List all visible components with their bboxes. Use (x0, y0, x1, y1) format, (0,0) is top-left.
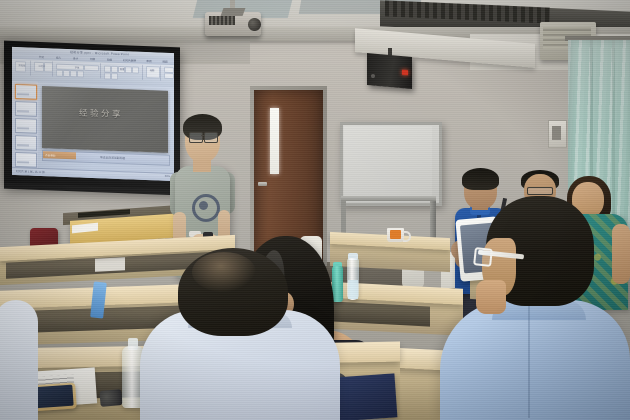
projector-screen-surface: 经验分享.pptx - Microsoft PowerPoint 开始 插入 设… (12, 47, 174, 181)
shirt-seam (528, 306, 530, 418)
gold-smartphone-screen[interactable] (32, 385, 73, 409)
slide-editing-stage[interactable]: 经验分享 点击添加 单击此处添加副标题 (38, 82, 174, 173)
blue-polo-man-hair (462, 168, 499, 190)
patterned-blouse-woman-arm (612, 224, 630, 284)
slide-accent-label: 点击添加 (45, 153, 55, 157)
ribbon-group-label-clipboard: 剪贴板 (14, 63, 30, 68)
door-glass-panel (270, 108, 279, 174)
projector-arm (221, 8, 246, 16)
slide-thumbnail-4[interactable] (15, 135, 37, 151)
eyeglasses-lens-left-icon (189, 132, 203, 143)
ribbon-italic-button[interactable] (63, 70, 70, 77)
ribbon-group-label-slides: 幻灯片 (32, 64, 52, 69)
ribbon-replace-button[interactable] (164, 73, 174, 79)
ribbon-underline-button[interactable] (70, 70, 77, 77)
slide-thumbnail-3[interactable] (15, 118, 37, 134)
statusbar-zoom-level[interactable]: 66% (165, 174, 170, 177)
slide-thumbnail-2[interactable] (15, 101, 37, 117)
ribbon-shadow-button[interactable] (77, 70, 84, 77)
projector-lens-icon (248, 18, 261, 31)
slide-thumbnail-panel[interactable] (12, 81, 39, 176)
car-keys[interactable] (99, 389, 122, 407)
speaker-driver-icon (371, 74, 375, 78)
edge-person-shoulder (0, 300, 38, 420)
door-handle[interactable] (258, 182, 267, 186)
foreground-man-left-scalp (192, 252, 256, 292)
ribbon-group-label-drawing: 绘图 (144, 68, 160, 73)
foreground-man-right-hand (476, 280, 506, 314)
tshirt-logo-center-icon (199, 201, 208, 210)
mug-graphic (390, 230, 401, 239)
slide-thumbnail-5[interactable] (15, 152, 37, 168)
desk-row-1-items (95, 257, 125, 272)
ribbon-line-spacing-button[interactable] (104, 72, 111, 79)
back-right-man-eyeglasses-icon (527, 187, 553, 195)
projector-vent-icon (209, 16, 235, 25)
water-bottle-contents (348, 280, 358, 299)
classroom-photo: 经验分享.pptx - Microsoft PowerPoint 开始 插入 设… (0, 0, 630, 420)
eyeglasses-lens-icon (473, 247, 493, 267)
wall-outlet-socket-icon (552, 126, 561, 140)
eyeglasses-lens-right-icon (204, 132, 218, 143)
whiteboard-surface[interactable] (344, 126, 432, 196)
ribbon-bold-button[interactable] (56, 70, 63, 77)
green-thermos[interactable] (332, 266, 343, 302)
eyeglasses-bridge-icon (201, 135, 204, 136)
ribbon-columns-button[interactable] (111, 73, 118, 80)
slide-thumbnail-1[interactable] (15, 84, 37, 100)
speaker-power-led-icon (402, 70, 408, 76)
whiteboard-marker-tray (341, 196, 436, 201)
